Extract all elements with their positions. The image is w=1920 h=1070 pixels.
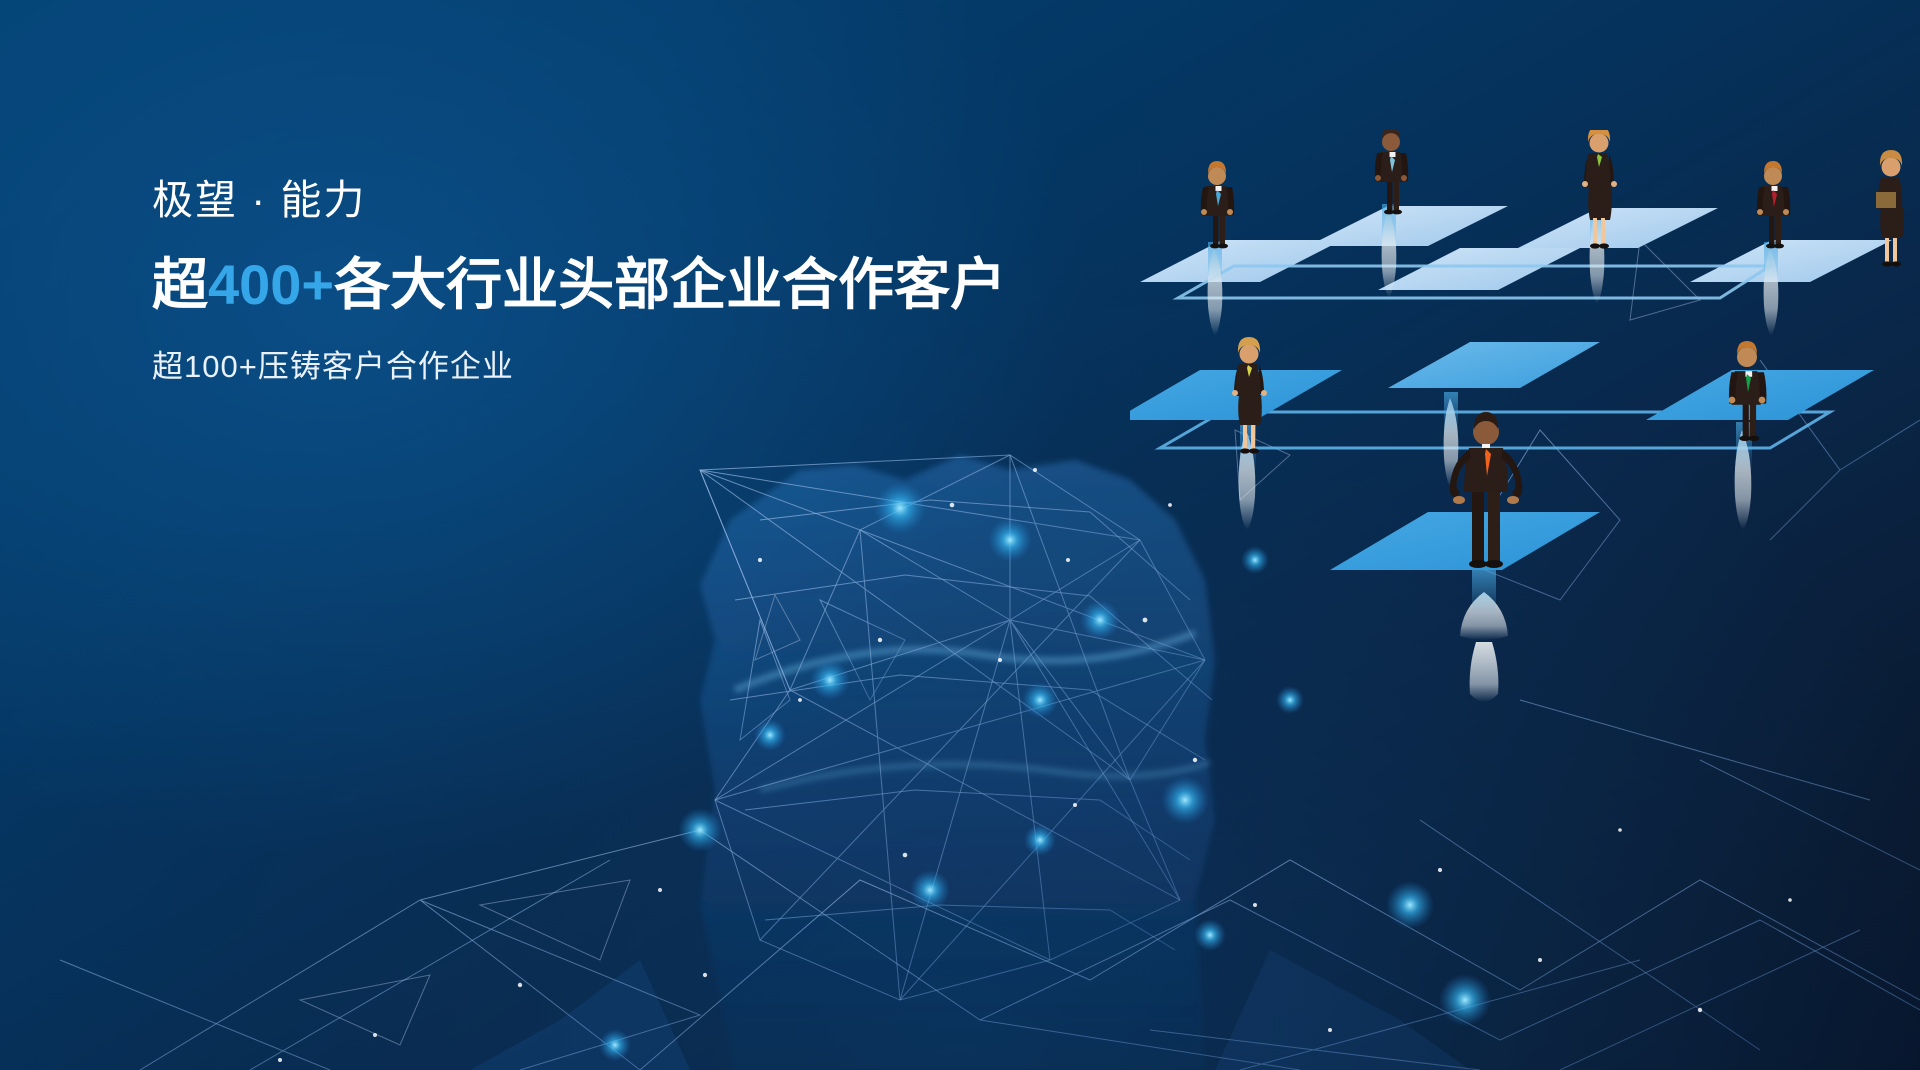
hero-copy: 极望 · 能力 超400+各大行业头部企业合作客户 超100+压铸客户合作企业	[152, 176, 1152, 385]
business-team-illustration	[1130, 130, 1920, 720]
hero-subtitle: 超100+压铸客户合作企业	[152, 348, 1152, 385]
folder-icon	[1876, 192, 1896, 208]
headline-prefix: 超	[152, 253, 208, 316]
figure-man-green-tie	[1729, 341, 1767, 441]
hero-eyebrow: 极望 · 能力	[152, 176, 1152, 225]
figure-man-teal-tie	[1375, 130, 1409, 214]
headline-suffix: 各大行业头部企业合作客户	[334, 253, 1006, 316]
headline-number: 400+	[208, 253, 334, 316]
figure-man-blue-tie	[1201, 161, 1235, 248]
figure-woman-with-folder	[1876, 150, 1904, 267]
figure-man-red-tie	[1757, 161, 1791, 248]
platforms-mid	[1388, 342, 1600, 388]
page-title: 超400+各大行业头部企业合作客户	[152, 253, 1152, 317]
hero-banner: 极望 · 能力 超400+各大行业头部企业合作客户 超100+压铸客户合作企业	[0, 0, 1920, 1070]
